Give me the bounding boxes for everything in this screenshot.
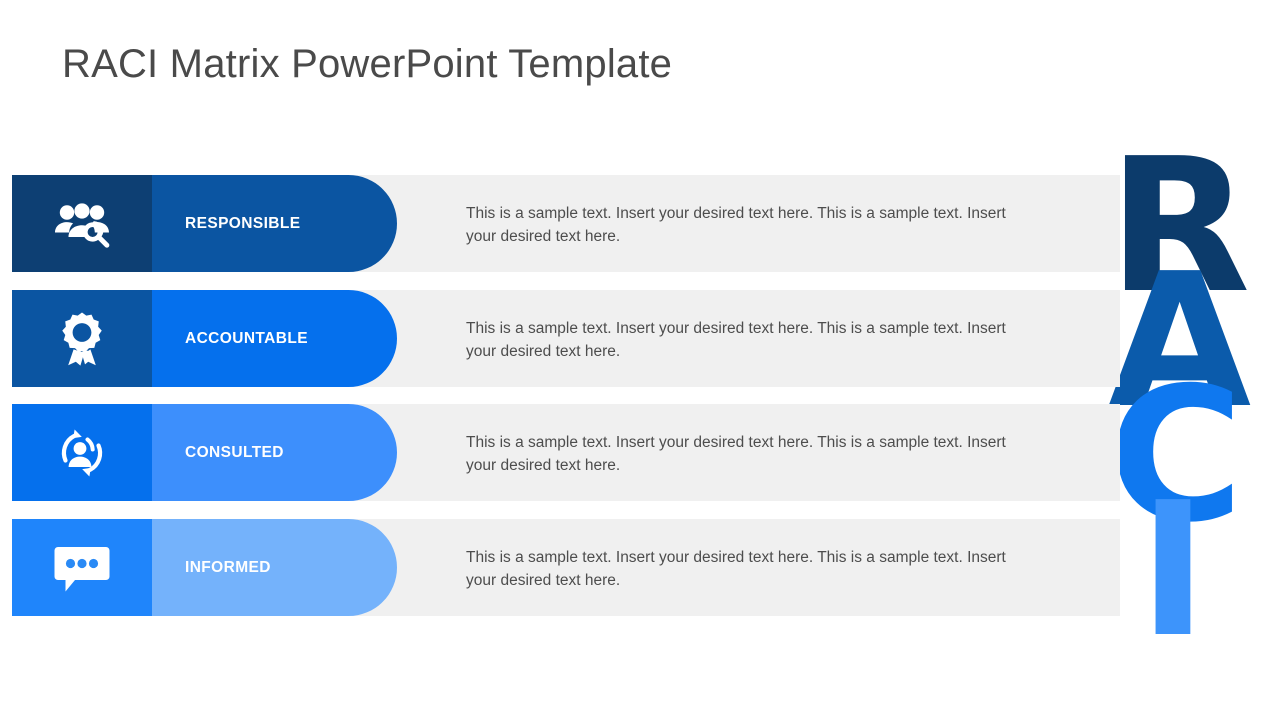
description-panel: This is a sample text. Insert your desir… xyxy=(300,290,1120,387)
speech-bubble-dots-icon xyxy=(53,542,111,594)
label-bar[interactable]: CONSULTED xyxy=(152,404,397,501)
raci-pill[interactable]: RESPONSIBLE xyxy=(12,175,397,272)
label-bar[interactable]: INFORMED xyxy=(152,519,397,616)
page-title: RACI Matrix PowerPoint Template xyxy=(62,42,672,87)
description-text: This is a sample text. Insert your desir… xyxy=(466,317,1036,363)
raci-label: INFORMED xyxy=(185,559,271,577)
description-panel: This is a sample text. Insert your desir… xyxy=(300,519,1120,616)
icon-container xyxy=(12,175,152,272)
raci-row[interactable]: C This is a sample text. Insert your des… xyxy=(0,404,1280,501)
description-text: This is a sample text. Insert your desir… xyxy=(466,431,1036,477)
raci-pill[interactable]: CONSULTED xyxy=(12,404,397,501)
description-panel: This is a sample text. Insert your desir… xyxy=(300,404,1120,501)
raci-pill[interactable]: INFORMED xyxy=(12,519,397,616)
label-bar[interactable]: ACCOUNTABLE xyxy=(152,290,397,387)
raci-label: ACCOUNTABLE xyxy=(185,330,308,348)
raci-label: RESPONSIBLE xyxy=(185,215,301,233)
icon-container xyxy=(12,404,152,501)
raci-label: CONSULTED xyxy=(185,444,284,462)
raci-row[interactable]: A This is a sample text. Insert your des… xyxy=(0,290,1280,387)
description-text: This is a sample text. Insert your desir… xyxy=(466,546,1036,592)
people-search-icon xyxy=(54,199,110,249)
award-ribbon-icon xyxy=(59,311,105,367)
description-panel: This is a sample text. Insert your desir… xyxy=(300,175,1120,272)
slide-canvas: RACI Matrix PowerPoint Template R This i… xyxy=(0,0,1280,720)
icon-container xyxy=(12,290,152,387)
raci-row[interactable]: I This is a sample text. Insert your des… xyxy=(0,519,1280,616)
icon-container xyxy=(12,519,152,616)
raci-row[interactable]: R This is a sample text. Insert your des… xyxy=(0,175,1280,272)
person-refresh-icon xyxy=(54,425,110,481)
label-bar[interactable]: RESPONSIBLE xyxy=(152,175,397,272)
description-text: This is a sample text. Insert your desir… xyxy=(466,202,1036,248)
raci-pill[interactable]: ACCOUNTABLE xyxy=(12,290,397,387)
big-letter-i: I xyxy=(1108,475,1238,665)
